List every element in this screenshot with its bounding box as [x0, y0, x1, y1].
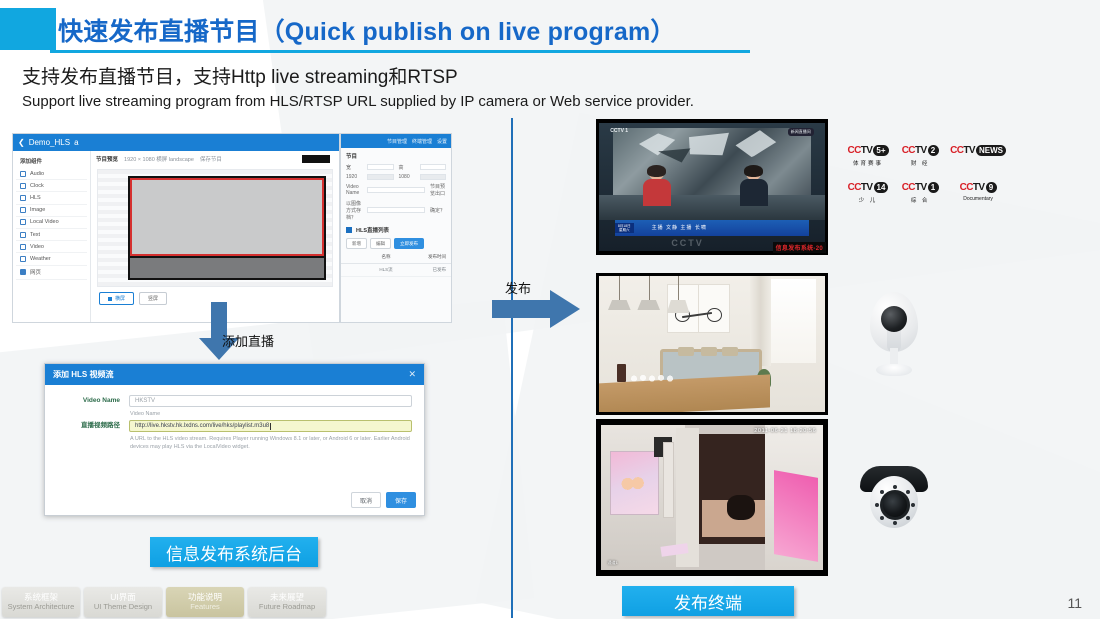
tab-future-roadmap[interactable]: 未来展望 Future Roadmap [248, 587, 326, 617]
wine-bottle [617, 364, 626, 382]
sidebar-item-label: Text [30, 232, 40, 238]
page-title-cn: 快速发布直播节目 [58, 18, 260, 46]
topbar-item[interactable]: 设置 [437, 138, 447, 145]
sidebar-item-web[interactable]: 网页 [16, 266, 87, 280]
bottom-tab-bar: 系统框架 System Architecture UI界面 UI Theme D… [2, 587, 326, 617]
pink-poster [774, 470, 818, 562]
selected-widget-frame[interactable] [130, 178, 324, 256]
sidebar-item-label: 网页 [30, 268, 41, 276]
audio-icon [20, 171, 26, 177]
ir-led [911, 503, 915, 507]
sidebar-item-audio[interactable]: Audio [16, 168, 87, 180]
ip-camera-icon [858, 292, 930, 378]
publish-label: 发布 [505, 278, 531, 297]
sidebar-item-weather[interactable]: Weather [16, 253, 87, 265]
channel-logo: CCTV 1 [610, 128, 628, 134]
properties-panel-screenshot: 节目管理 终端管理 设置 节目 宽 高 1920 1080 Video Name… [340, 133, 452, 323]
cctv-logo-grid: CCTV5+ 体育赛事 CCTV2 财 经 CCTVNEWS CCTV14 少 … [846, 140, 1006, 204]
sidebar-item-text[interactable]: Text [16, 229, 87, 241]
hls-icon [20, 195, 26, 201]
cancel-button[interactable]: 取消 [351, 492, 381, 508]
sidebar-item-label: Clock [30, 183, 44, 189]
news-scene: CCTV 1 新闻直播间 CCTV 8月18日 星期六 主播 文静 主播 长啸 [599, 123, 825, 251]
sidebar-item-local-video[interactable]: Local Video [16, 217, 87, 229]
canvas-stage [128, 176, 326, 280]
cctv-logo-9: CCTV9 Documentary [950, 177, 1006, 204]
living-room-photo [596, 273, 828, 415]
sidebar-item-video[interactable]: Video [16, 241, 87, 253]
stream-url-value: http://live.hkstv.hk.lxdns.com/live/hks/… [135, 423, 269, 429]
terminal-callout[interactable]: 发布终端 [622, 586, 794, 616]
page-title-en: （Quick publish on live program） [260, 18, 676, 46]
ticker-date: 8月18日 星期六 [615, 223, 634, 233]
properties-section-title: 节目 [341, 148, 451, 162]
archive-input[interactable] [367, 207, 425, 213]
properties-topbar: 节目管理 终端管理 设置 [341, 134, 451, 148]
subtitle-en: Support live streaming program from HLS/… [22, 93, 694, 110]
toolbar-resolution: 1920 × 1080 横屏 landscape [124, 155, 194, 163]
stream-url-help: A URL to the HLS video stream. Requires … [129, 432, 412, 451]
add-hls-dialog: 添加 HLS 视频流 ✕ Video Name HKSTV Video Name… [44, 363, 425, 516]
orientation-landscape-button[interactable]: 横屏 [99, 292, 134, 305]
app-title-suffix: a [74, 138, 78, 147]
stream-url-label: 直播视频路径 [57, 420, 129, 432]
editor-main: 节目预览 1920 × 1080 横屏 landscape 保存节目 横屏 竖屏 [91, 151, 339, 323]
app-body: 添加组件 Audio Clock HLS Image Local Video T… [13, 151, 339, 323]
toolbar-action[interactable]: 保存节目 [200, 155, 222, 163]
wine-glasses [628, 369, 678, 385]
clock-icon [20, 183, 26, 189]
text-icon [20, 232, 26, 238]
video-icon [20, 244, 26, 250]
cctv-logo-5plus: CCTV5+ 体育赛事 [846, 140, 890, 167]
table-header: 名称 发布时间 [341, 251, 451, 264]
video-name-label: Video Name [57, 395, 129, 407]
dialog-titlebar: 添加 HLS 视频流 ✕ [45, 364, 424, 385]
ir-led [893, 485, 897, 489]
topbar-item[interactable]: 节目管理 [387, 138, 407, 145]
property-row: Video Name 节目预览出口 [341, 181, 451, 198]
cctv-logo-1: CCTV1 综 合 [898, 177, 942, 204]
video-name-help: Video Name [129, 407, 412, 418]
hls-list-title: HLS直播列表 [341, 222, 451, 236]
news-anchor-right [739, 167, 768, 205]
image-icon [20, 207, 26, 213]
sidebar-item-label: Image [30, 207, 45, 213]
sidebar-header: 添加组件 [16, 155, 87, 168]
page-number: 11 [1067, 595, 1082, 611]
weather-icon [20, 256, 26, 262]
sidebar-item-hls[interactable]: HLS [16, 192, 87, 204]
add-button[interactable]: 新增 [346, 238, 367, 249]
sidebar-item-clock[interactable]: Clock [16, 180, 87, 192]
topbar-item[interactable]: 终端管理 [412, 138, 432, 145]
chevron-left-icon[interactable]: ❮ [18, 138, 25, 147]
edit-button[interactable]: 编辑 [370, 238, 391, 249]
dome-camera-icon [858, 462, 930, 540]
news-broadcast-photo: CCTV 1 新闻直播间 CCTV 8月18日 星期六 主播 文静 主播 长啸 … [596, 119, 828, 255]
page-title: 快速发布直播节目（Quick publish on live program） [58, 12, 676, 48]
app-titlebar: ❮ Demo_HLS a [13, 134, 339, 151]
news-overlay-text: 信息发布系统-20 [773, 242, 826, 253]
hls-list-buttons: 新增 编辑 立即发布 [341, 236, 451, 251]
tab-ui-theme-design[interactable]: UI界面 UI Theme Design [84, 587, 162, 617]
stream-url-input[interactable]: http://live.hkstv.hk.lxdns.com/live/hks/… [129, 420, 412, 432]
news-anchor-left [642, 167, 671, 205]
program-badge: 新闻直播间 [788, 128, 814, 136]
web-icon [20, 269, 26, 275]
component-sidebar: 添加组件 Audio Clock HLS Image Local Video T… [13, 151, 91, 323]
sidebar-item-label: Video [30, 244, 44, 250]
video-name-value: HKSTV [135, 398, 155, 404]
video-name-input[interactable]: HKSTV [129, 395, 412, 407]
cctv-logo-2: CCTV2 财 经 [898, 140, 942, 167]
subtitle-cn: 支持发布直播节目，支持Http live streaming和RTSP [22, 62, 458, 89]
close-icon[interactable]: ✕ [408, 369, 416, 380]
height-input[interactable] [420, 164, 447, 170]
news-ticker: 8月18日 星期六 主播 文静 主播 长啸 [615, 220, 809, 235]
elevator-button-panel [663, 442, 674, 517]
orientation-portrait-button[interactable]: 竖屏 [139, 292, 167, 305]
video-name-row: Video Name HKSTV Video Name [57, 395, 412, 418]
timestamp-overlay: 2011-06-21 18:20:56 [754, 428, 816, 434]
sidebar-item-label: Local Video [30, 219, 59, 225]
width-input[interactable] [367, 164, 394, 170]
toolbar-label: 节目预览 [96, 155, 118, 163]
room-scene [599, 276, 825, 412]
save-button[interactable]: 保存 [386, 492, 416, 508]
vertical-divider [511, 118, 513, 618]
height-value [420, 174, 447, 180]
elevator-interior [699, 434, 770, 544]
title-underline [50, 50, 750, 53]
property-row: 以图像方式存档？ 确定？ [341, 198, 451, 222]
dialog-footer: 取消 保存 [351, 492, 416, 508]
wall-poster [610, 451, 659, 515]
backend-callout[interactable]: 信息发布系统后台 [150, 537, 318, 567]
local-video-icon [20, 219, 26, 225]
sidebar-item-label: Weather [30, 256, 51, 262]
title-accent-bar [0, 8, 56, 50]
dialog-title: 添加 HLS 视频流 [53, 369, 113, 380]
editor-toolbar: 节目预览 1920 × 1080 横屏 landscape 保存节目 [91, 151, 339, 167]
table-row[interactable]: HLS流 已发布 [341, 264, 451, 277]
editor-screenshot: ❮ Demo_HLS a 添加组件 Audio Clock HLS Image … [12, 133, 340, 323]
elevator-surveillance-photo: 2011-06-21 18:20:56 通道1 [596, 419, 828, 576]
ticker-anchors: 主播 文静 主播 长啸 [652, 224, 707, 231]
text-caret [270, 423, 271, 430]
property-row: 宽 高 [341, 162, 451, 172]
channel-label-overlay: 通道1 [608, 560, 618, 566]
dialog-body: Video Name HKSTV Video Name 直播视频路径 http:… [45, 385, 424, 457]
news-desk [599, 195, 825, 221]
ir-led [875, 503, 879, 507]
publish-now-button[interactable]: 立即发布 [394, 238, 424, 249]
landscape-icon [108, 297, 112, 301]
sidebar-item-label: Audio [30, 171, 44, 177]
ir-led [880, 516, 884, 520]
toolbar-value-box [302, 155, 330, 163]
video-name-input[interactable] [367, 187, 425, 193]
sidebar-item-label: HLS [30, 195, 41, 201]
tab-features[interactable]: 功能说明 Features [166, 587, 244, 617]
add-live-label: 添加直播 [222, 331, 274, 350]
ir-led [906, 490, 910, 494]
cctv-logo-news: CCTVNEWS [950, 140, 1006, 167]
editor-canvas[interactable] [97, 169, 333, 287]
channel-watermark: CCTV [671, 238, 704, 248]
list-icon [346, 227, 352, 233]
cctv-logo-14: CCTV14 少 儿 [846, 177, 890, 204]
canvas-lower-band [130, 258, 324, 278]
property-row: 1920 1080 [341, 172, 451, 181]
ir-led [906, 516, 910, 520]
stream-url-row: 直播视频路径 http://live.hkstv.hk.lxdns.com/li… [57, 420, 412, 451]
app-title: Demo_HLS [29, 138, 70, 147]
ir-led [893, 521, 897, 525]
width-value [367, 174, 394, 180]
tab-system-architecture[interactable]: 系统框架 System Architecture [2, 587, 80, 617]
elevator-scene: 2011-06-21 18:20:56 通道1 [601, 425, 823, 570]
sidebar-item-image[interactable]: Image [16, 205, 87, 217]
